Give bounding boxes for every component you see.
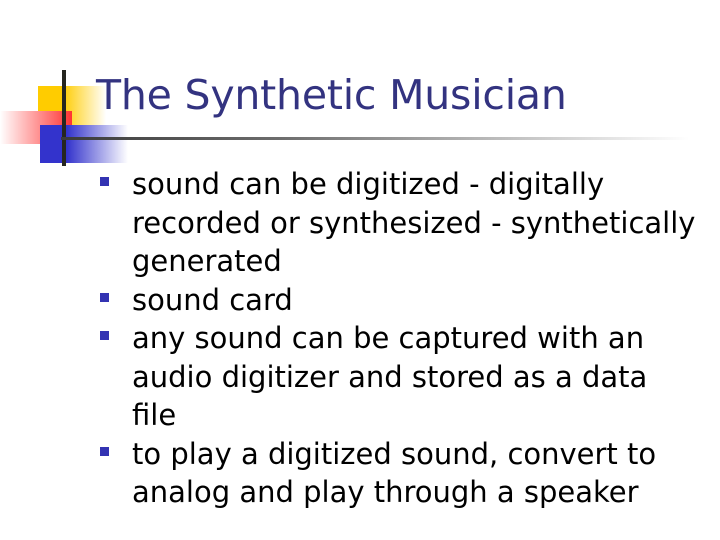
title-divider-rule [61,137,689,140]
decoration-blue-block [40,125,128,163]
slide-body: sound can be digitized - digitally recor… [98,165,698,512]
bullet-item-label: sound can be digitized - digitally recor… [132,165,698,281]
bullet-square-icon [100,331,109,340]
bullet-square-icon [100,293,109,302]
bullet-item: sound can be digitized - digitally recor… [98,165,698,281]
slide: The Synthetic Musician sound can be digi… [0,0,720,540]
decoration-vertical-bar [62,70,66,166]
bullet-square-icon [100,177,109,186]
bullet-item: sound card [98,281,698,320]
bullet-square-icon [100,447,109,456]
bullet-item-label: any sound can be captured with an audio … [132,319,698,435]
bullet-item-label: sound card [132,281,698,320]
bullet-item: any sound can be captured with an audio … [98,319,698,435]
bullet-item-label: to play a digitized sound, convert to an… [132,435,698,512]
bullet-item: to play a digitized sound, convert to an… [98,435,698,512]
slide-title: The Synthetic Musician [96,72,696,118]
